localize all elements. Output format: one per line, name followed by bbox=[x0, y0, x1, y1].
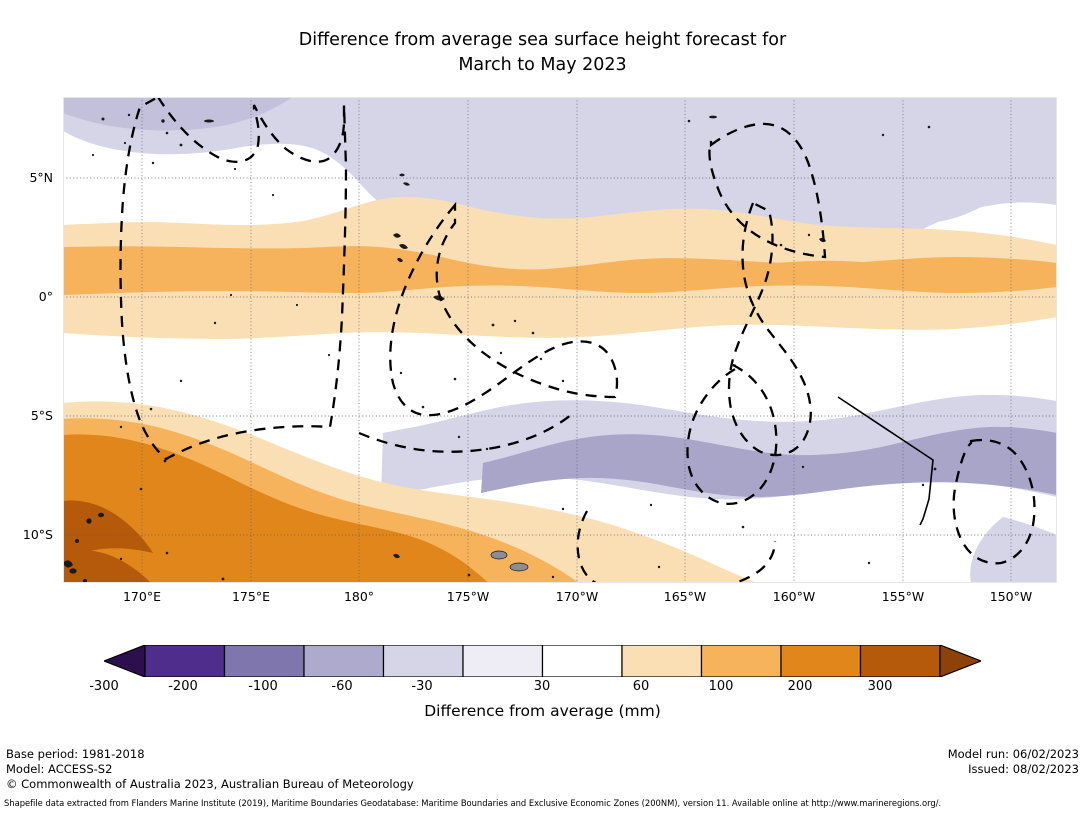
colorbar-band-30-60[interactable] bbox=[622, 645, 702, 677]
xtick-label-175E: 175°E bbox=[216, 589, 286, 604]
xtick-label-175W: 175°W bbox=[433, 589, 503, 604]
map-svg bbox=[63, 97, 1057, 583]
footer-copyright: © Commonwealth of Australia 2023, Austra… bbox=[6, 777, 414, 791]
xtick-label-150W: 150°W bbox=[976, 589, 1046, 604]
colorbar-tick-200: 200 bbox=[770, 679, 830, 694]
map-canvas bbox=[63, 97, 1057, 583]
colorbar-tick-30: 30 bbox=[512, 679, 572, 694]
page-title: Difference from average sea surface heig… bbox=[0, 28, 1085, 78]
footer-run-and-issued-dates: Model run: 06/02/2023 Issued: 08/02/2023 bbox=[948, 747, 1079, 776]
region-small-orange-speck bbox=[797, 267, 833, 274]
xtick-label-180: 180° bbox=[324, 589, 394, 604]
colorbar-band-200-100[interactable] bbox=[304, 645, 384, 677]
colorbar-band-below-300[interactable] bbox=[145, 645, 225, 677]
colorbar-axis-label: Difference from average (mm) bbox=[0, 702, 1085, 720]
colorbar-tick-300: 300 bbox=[850, 679, 910, 694]
colorbar-extend-low[interactable] bbox=[104, 645, 145, 677]
xtick-label-170W: 170°W bbox=[542, 589, 612, 604]
colorbar-tick-100: 100 bbox=[691, 679, 751, 694]
colorbar-band-200-300[interactable] bbox=[861, 645, 941, 677]
xtick-label-170E: 170°E bbox=[107, 589, 177, 604]
colorbar-tick--30: -30 bbox=[392, 679, 452, 694]
footer-base-period-and-model: Base period: 1981-2018 Model: ACCESS-S2 bbox=[6, 747, 145, 776]
ytick-label-10S: 10°S bbox=[1, 527, 53, 542]
colorbar-tick-60: 60 bbox=[611, 679, 671, 694]
ytick-label-5N: 5°N bbox=[1, 170, 53, 185]
ytick-label-5S: 5°S bbox=[1, 408, 53, 423]
xtick-label-155W: 155°W bbox=[868, 589, 938, 604]
colorbar-tick--100: -100 bbox=[233, 679, 293, 694]
colorbar-region: -300 -200 -100 -60 -30 30 60 100 200 300… bbox=[0, 645, 1085, 745]
ytick-label-0: 0° bbox=[1, 289, 53, 304]
map-plot-area: 170°E 175°E 180° 175°W 170°W 165°W 160°W… bbox=[63, 97, 1057, 583]
colorbar-tick--300: -300 bbox=[74, 679, 134, 694]
colorbar-tick--60: -60 bbox=[312, 679, 372, 694]
colorbar-band-neutral[interactable] bbox=[543, 645, 623, 677]
colorbar-band-300-200[interactable] bbox=[225, 645, 305, 677]
colorbar-band-60-100[interactable] bbox=[702, 645, 782, 677]
xtick-label-165W: 165°W bbox=[650, 589, 720, 604]
contour-fill-group bbox=[63, 97, 1057, 583]
colorbar[interactable] bbox=[104, 645, 981, 677]
colorbar-band-100-200[interactable] bbox=[781, 645, 861, 677]
xtick-label-160W: 160°W bbox=[759, 589, 829, 604]
colorbar-tick--200: -200 bbox=[153, 679, 213, 694]
colorbar-extend-high[interactable] bbox=[940, 645, 981, 677]
colorbar-band-60-30[interactable] bbox=[463, 645, 543, 677]
footer-shapefile-attribution: Shapefile data extracted from Flanders M… bbox=[4, 798, 941, 808]
colorbar-band-100-60[interactable] bbox=[384, 645, 464, 677]
